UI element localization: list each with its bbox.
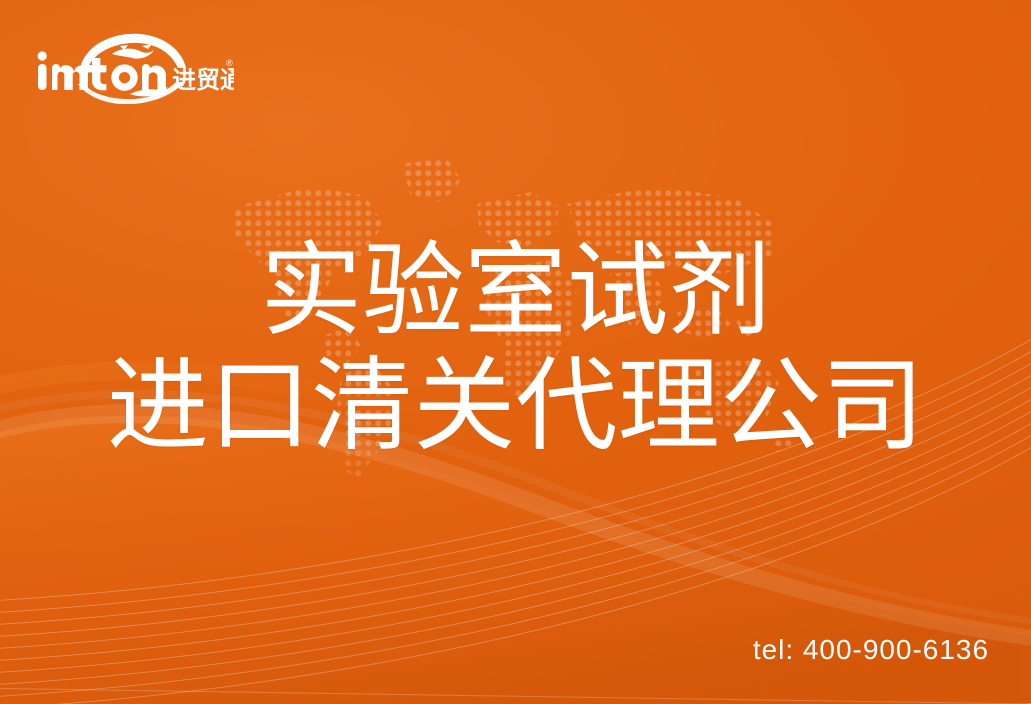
- contact-phone[interactable]: tel: 400-900-6136: [753, 634, 989, 666]
- promotional-banner: 进贸通 ® 实验室试剂 进口清关代理公司 tel: 400-900-6136: [0, 0, 1031, 704]
- page-title: 实验室试剂 进口清关代理公司: [0, 234, 1031, 465]
- logo-chinese-name: 进贸通: [172, 66, 234, 94]
- registered-mark: ®: [226, 58, 233, 68]
- headline-line-2: 进口清关代理公司: [0, 349, 1031, 464]
- headline-line-1: 实验室试剂: [0, 234, 1031, 349]
- brand-logo[interactable]: 进贸通 ®: [34, 28, 234, 104]
